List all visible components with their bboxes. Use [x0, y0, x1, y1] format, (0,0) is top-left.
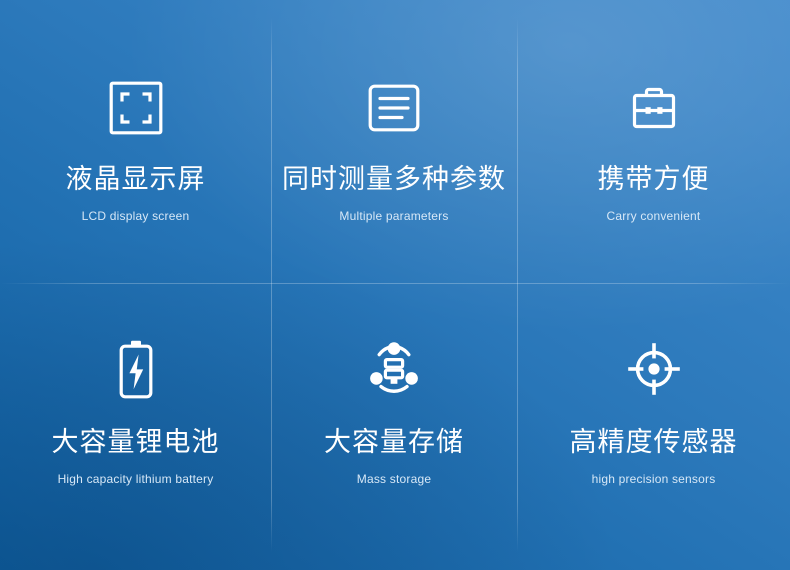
crop-frame-icon [109, 72, 163, 144]
feature-cell-carry-convenient: 携带方便 Carry convenient [517, 0, 790, 283]
feature-grid: 液晶显示屏 LCD display screen 同时测量多种参数 Multip… [0, 0, 790, 570]
list-lines-icon [368, 72, 420, 144]
feature-title-cn: 同时测量多种参数 [282, 166, 506, 193]
feature-cell-lithium-battery: 大容量锂电池 High capacity lithium battery [0, 283, 271, 570]
feature-board: 液晶显示屏 LCD display screen 同时测量多种参数 Multip… [0, 0, 790, 570]
feature-title-cn: 高精度传感器 [570, 429, 738, 456]
feature-title-en: High capacity lithium battery [58, 473, 214, 485]
feature-title-en: LCD display screen [82, 210, 190, 222]
feature-title-en: Carry convenient [607, 210, 701, 222]
battery-bolt-icon [117, 333, 155, 405]
feature-title-en: high precision sensors [592, 473, 716, 485]
feature-title-cn: 液晶显示屏 [66, 166, 206, 193]
feature-cell-precision-sensors: 高精度传感器 high precision sensors [517, 283, 790, 570]
feature-title-cn: 大容量存储 [324, 429, 464, 456]
feature-title-en: Multiple parameters [339, 210, 448, 222]
feature-title-cn: 携带方便 [598, 166, 710, 193]
feature-cell-mass-storage: 大容量存储 Mass storage [271, 283, 517, 570]
crosshair-target-icon [625, 333, 683, 405]
feature-cell-multiple-parameters: 同时测量多种参数 Multiple parameters [271, 0, 517, 283]
storage-network-icon [365, 333, 423, 405]
feature-title-en: Mass storage [357, 473, 431, 485]
feature-title-cn: 大容量锂电池 [52, 429, 220, 456]
feature-cell-lcd-display: 液晶显示屏 LCD display screen [0, 0, 271, 283]
briefcase-icon [628, 72, 680, 144]
